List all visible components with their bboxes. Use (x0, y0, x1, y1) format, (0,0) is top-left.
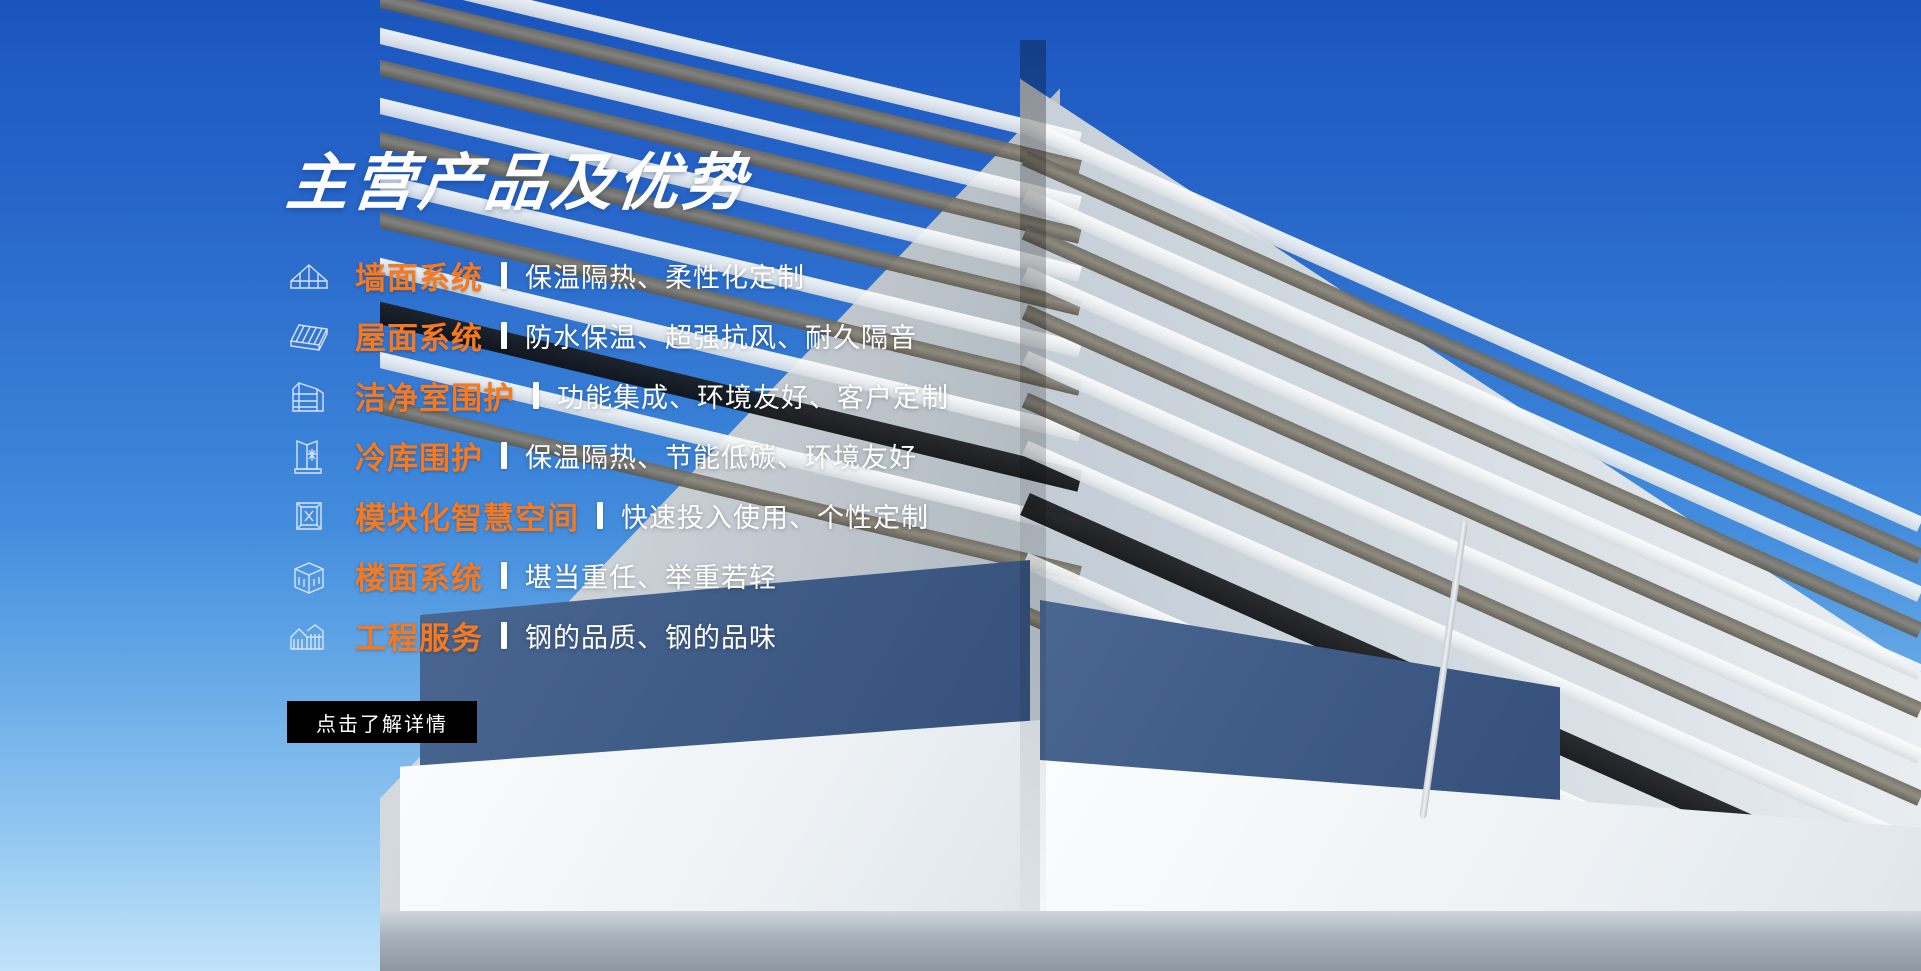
list-item[interactable]: 洁净室围护 功能集成、环境友好、客户定制 (287, 371, 1187, 419)
product-description: 快速投入使用、个性定制 (621, 496, 929, 535)
engineering-service-buildings-wireframe-icon (287, 614, 331, 656)
product-name: 楼面系统 (355, 553, 483, 598)
product-description: 防水保温、超强抗风、耐久隔音 (525, 316, 917, 355)
product-description: 保温隔热、节能低碳、环境友好 (525, 436, 917, 475)
product-description: 功能集成、环境友好、客户定制 (557, 376, 949, 415)
page-title: 主营产品及优势 (284, 150, 1191, 215)
list-item[interactable]: 冷库围护 保温隔热、节能低碳、环境友好 (287, 431, 1187, 479)
list-item[interactable]: 楼面系统 堪当重任、举重若轻 (287, 551, 1187, 599)
promo-content: 主营产品及优势 墙面系统 保温隔热、柔性化定制 (287, 150, 1187, 743)
floor-deck-cube-wireframe-icon (287, 554, 331, 596)
cleanroom-building-wireframe-icon (287, 374, 331, 416)
learn-more-button[interactable]: 点击了解详情 (287, 701, 477, 743)
product-name: 工程服务 (355, 613, 483, 658)
ground-strip (380, 911, 1921, 971)
separator-bar (501, 322, 507, 349)
separator-bar (501, 442, 507, 469)
separator-bar (501, 562, 507, 589)
cold-storage-wireframe-icon (287, 434, 331, 476)
separator-bar (597, 502, 603, 529)
list-item[interactable]: 屋面系统 防水保温、超强抗风、耐久隔音 (287, 311, 1187, 359)
separator-bar (501, 622, 507, 649)
product-name: 墙面系统 (355, 253, 483, 298)
banner-stage: 主营产品及优势 墙面系统 保温隔热、柔性化定制 (0, 0, 1921, 971)
list-item[interactable]: 工程服务 钢的品质、钢的品味 (287, 611, 1187, 659)
separator-bar (533, 382, 539, 409)
product-name: 洁净室围护 (355, 373, 515, 418)
separator-bar (501, 262, 507, 289)
product-description: 堪当重任、举重若轻 (525, 556, 777, 595)
list-item[interactable]: 墙面系统 保温隔热、柔性化定制 (287, 251, 1187, 299)
modular-space-cube-wireframe-icon (287, 494, 331, 536)
product-description: 保温隔热、柔性化定制 (525, 256, 805, 295)
wall-panel-wireframe-icon (287, 254, 331, 296)
list-item[interactable]: 模块化智慧空间 快速投入使用、个性定制 (287, 491, 1187, 539)
product-name: 屋面系统 (355, 313, 483, 358)
product-name: 模块化智慧空间 (355, 493, 579, 538)
product-name: 冷库围护 (355, 433, 483, 478)
roof-panel-wireframe-icon (287, 314, 331, 356)
product-description: 钢的品质、钢的品味 (525, 616, 777, 655)
product-list: 墙面系统 保温隔热、柔性化定制 屋面系统 防水保温、超强抗风、耐久隔音 (287, 251, 1187, 659)
